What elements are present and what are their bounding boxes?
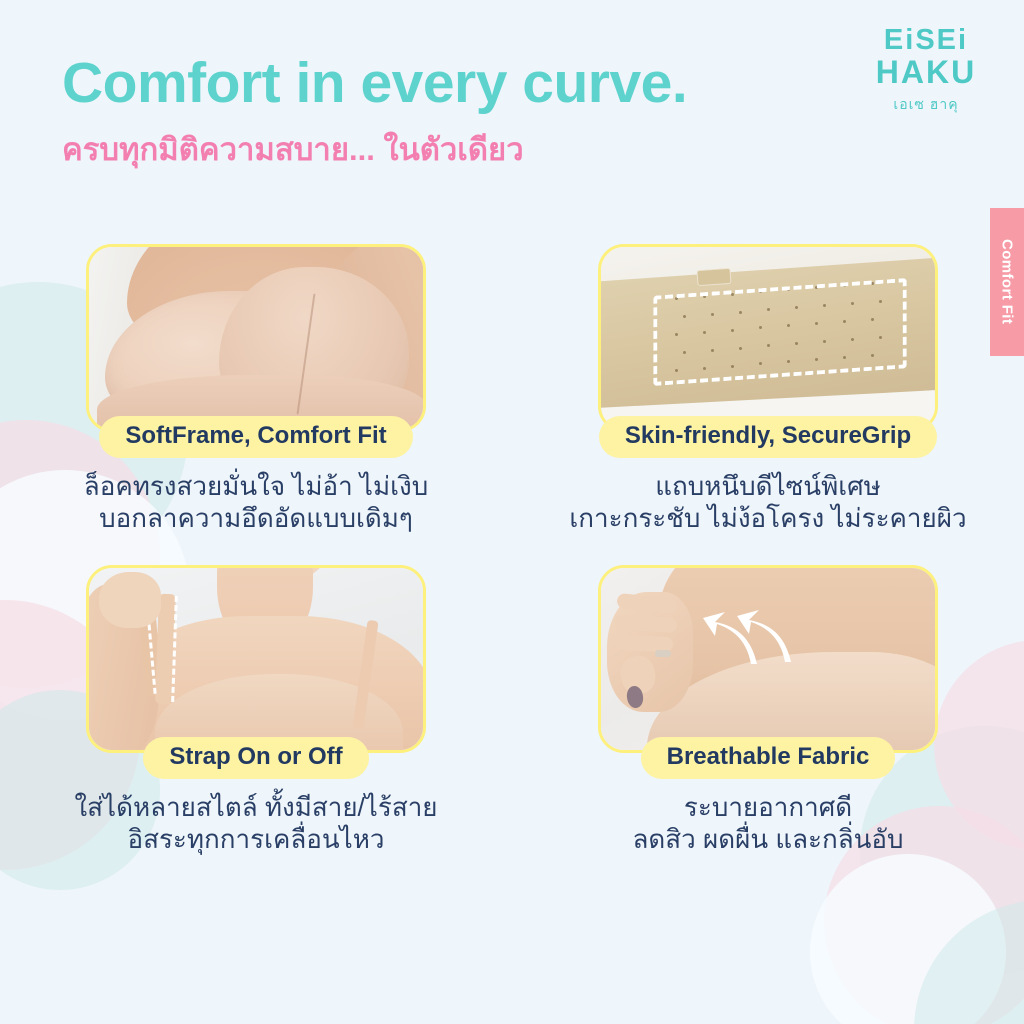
feature-desc-softframe: ล็อคทรงสวยมั่นใจ ไม่อ้า ไม่เงิบ บอกลาควา… xyxy=(84,471,428,534)
stretch-arrow-icon xyxy=(693,604,813,684)
brand-logo-line1: EiSEi xyxy=(852,26,1000,56)
feature-pill-strap: Strap On or Off xyxy=(143,737,368,779)
decorative-circle-mint xyxy=(914,900,1024,1024)
brand-logo: EiSEi HAKU เอเซ ฮาคุ xyxy=(852,26,1000,116)
feature-desc-line: เกาะกระชับ ไม่ง้อโครง ไม่ระคายผิว xyxy=(569,503,966,535)
feature-card-securegrip[interactable]: Skin-friendly, SecureGrip แถบหนึบดีไซน์พ… xyxy=(512,244,1024,535)
feature-desc-line: ใส่ได้หลายสไตล์ ทั้งมีสาย/ไร้สาย xyxy=(74,792,437,824)
feature-photo-strap xyxy=(86,565,426,753)
feature-card-strap[interactable]: Strap On or Off ใส่ได้หลายสไตล์ ทั้งมีสา… xyxy=(0,565,512,856)
page-title: Comfort in every curve. xyxy=(62,50,687,116)
feature-pill-securegrip: Skin-friendly, SecureGrip xyxy=(599,416,937,458)
feature-desc-breathable: ระบายอากาศดี ลดสิว ผดผื่น และกลิ่นอับ xyxy=(632,792,903,855)
brand-logo-line2: HAKU xyxy=(852,56,1000,89)
brand-logo-thai: เอเซ ฮาคุ xyxy=(852,94,1000,116)
page-subtitle: ครบทุกมิติความสบาย... ในตัวเดียว xyxy=(62,124,524,174)
product-feature-poster: Comfort in every curve. ครบทุกมิติความสบ… xyxy=(0,0,1024,1024)
feature-pill-breathable: Breathable Fabric xyxy=(641,737,896,779)
feature-desc-line: ลดสิว ผดผื่น และกลิ่นอับ xyxy=(632,824,903,856)
photo-shape-dashed-highlight xyxy=(653,278,906,386)
feature-photo-softframe xyxy=(86,244,426,432)
photo-shape-ring xyxy=(655,650,671,657)
feature-card-softframe[interactable]: SoftFrame, Comfort Fit ล็อคทรงสวยมั่นใจ … xyxy=(0,244,512,535)
feature-card-grid: SoftFrame, Comfort Fit ล็อคทรงสวยมั่นใจ … xyxy=(0,244,1024,856)
poster-header: Comfort in every curve. ครบทุกมิติความสบ… xyxy=(0,0,1024,200)
feature-desc-line: อิสระทุกการเคลื่อนไหว xyxy=(74,824,437,856)
feature-desc-strap: ใส่ได้หลายสไตล์ ทั้งมีสาย/ไร้สาย อิสระทุ… xyxy=(74,792,437,855)
feature-desc-line: ล็อคทรงสวยมั่นใจ ไม่อ้า ไม่เงิบ xyxy=(84,471,428,503)
feature-photo-securegrip xyxy=(598,244,938,432)
feature-desc-line: บอกลาความอึดอัดแบบเดิมๆ xyxy=(84,503,428,535)
decorative-circle-white xyxy=(810,854,1006,1024)
feature-desc-line: ระบายอากาศดี xyxy=(632,792,903,824)
feature-pill-softframe: SoftFrame, Comfort Fit xyxy=(99,416,412,458)
feature-card-breathable[interactable]: Breathable Fabric ระบายอากาศดี ลดสิว ผดผ… xyxy=(512,565,1024,856)
photo-shape-hand xyxy=(99,572,161,628)
feature-photo-breathable xyxy=(598,565,938,753)
feature-desc-securegrip: แถบหนึบดีไซน์พิเศษ เกาะกระชับ ไม่ง้อโครง… xyxy=(569,471,966,534)
feature-desc-line: แถบหนึบดีไซน์พิเศษ xyxy=(569,471,966,503)
